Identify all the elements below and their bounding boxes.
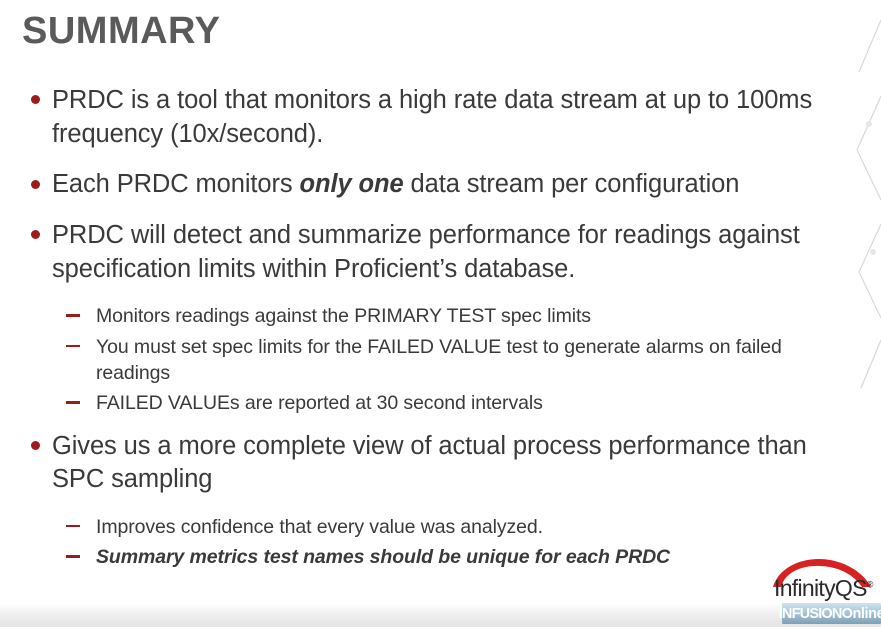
edge-decoration-graphic [855, 0, 881, 560]
logo-registered-mark: ® [867, 579, 874, 589]
sub-list-item-text: FAILED VALUEs are reported at 30 second … [96, 392, 543, 414]
spacer [0, 505, 830, 510]
list-item: PRDC is a tool that monitors a high rate… [0, 84, 830, 151]
bullet-disc-icon [31, 95, 40, 104]
sub-list-item-text: You must set spec limits for the FAILED … [96, 336, 782, 384]
bullet-dash-icon [66, 525, 80, 528]
list-item-text-part: Each PRDC monitors [52, 170, 300, 198]
sub-list-item-text: Summary metrics test names should be uni… [96, 546, 670, 568]
bullet-disc-icon [31, 230, 40, 239]
list-item-text: PRDC is a tool that monitors a high rate… [52, 86, 812, 148]
bullet-dash-icon [66, 401, 80, 404]
list-item: Each PRDC monitors only one data stream … [0, 168, 830, 202]
bullet-disc-icon [31, 180, 40, 189]
bullet-dash-icon [66, 345, 80, 348]
sub-list-item: FAILED VALUEs are reported at 30 second … [0, 390, 830, 416]
list-item: PRDC will detect and summarize performan… [0, 219, 830, 286]
list-item: Gives us a more complete view of actual … [0, 430, 830, 497]
slide-canvas: SUMMARY PRDC is a tool that monitors a h… [0, 0, 881, 627]
logo-wordmark-text: InfinityQS [774, 575, 867, 601]
sub-list-item: Summary metrics test names should be uni… [0, 544, 830, 570]
spacer [0, 210, 830, 219]
bullet-dash-icon [66, 314, 80, 317]
list-item-text: PRDC will detect and summarize performan… [52, 221, 800, 283]
logo-subbrand-primary: INFUSION [779, 606, 842, 622]
list-item-text-part: data stream per configuration [404, 170, 740, 198]
list-item-emphasis: only one [300, 170, 404, 198]
logo-subbrand-secondary: Online [842, 606, 881, 622]
spacer [0, 294, 830, 299]
spacer [0, 159, 830, 168]
logo-subbrand-text: INFUSIONOnline [782, 603, 881, 624]
page-title: SUMMARY [22, 11, 220, 53]
infinityqs-logo: InfinityQS® INFUSIONOnline [772, 556, 881, 627]
bullet-dash-icon [66, 555, 80, 558]
sub-list-item: Monitors readings against the PRIMARY TE… [0, 303, 830, 329]
sub-list-item-text: Monitors readings against the PRIMARY TE… [96, 305, 591, 327]
sub-list-item: Improves confidence that every value was… [0, 514, 830, 540]
sub-list-item: You must set spec limits for the FAILED … [0, 334, 830, 387]
bullet-disc-icon [31, 441, 40, 450]
footer-bar [0, 603, 881, 627]
logo-subbrand-bar: INFUSIONOnline [782, 603, 881, 624]
spacer [0, 421, 830, 430]
list-item-text: Gives us a more complete view of actual … [52, 432, 807, 494]
sub-list-item-text: Improves confidence that every value was… [96, 516, 543, 538]
logo-wordmark: InfinityQS® [774, 575, 873, 602]
bullet-list: PRDC is a tool that monitors a high rate… [0, 84, 830, 574]
